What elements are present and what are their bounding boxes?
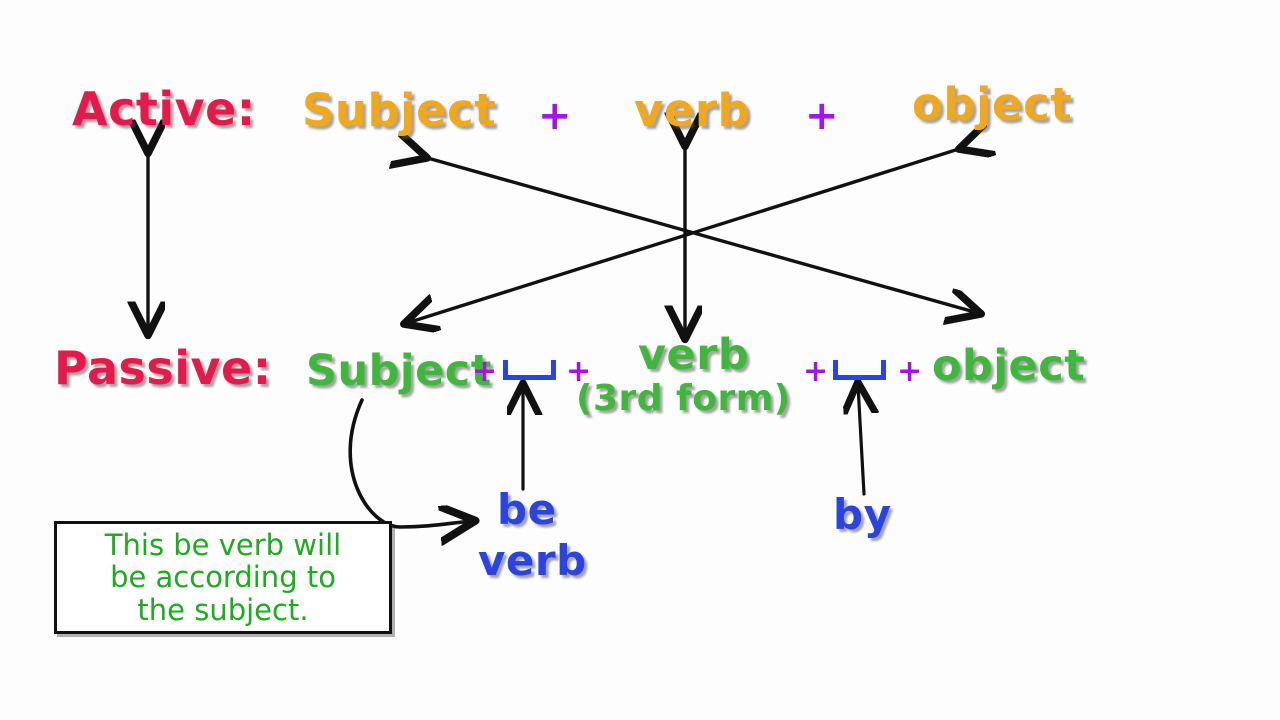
active-object-word: object [912,82,1072,127]
passive-be-verb-slot [503,360,556,380]
passive-plus-4: + [897,357,923,387]
passive-verb-third-form-note: (3rd form) [576,381,791,417]
subject-to-be-verb-curve-arrow [350,400,472,527]
active-plus-1: + [538,96,572,136]
active-verb-word: verb [634,88,750,133]
active-subject-to-passive-object-arrow [424,157,978,313]
note-line-1: This be verb will [57,524,389,561]
active-plus-2: + [805,96,839,136]
be-verb-annotation-line1: be [497,489,557,531]
note-box: This be verb will be according to the su… [54,521,392,634]
passive-plus-1: + [472,357,498,387]
passive-plus-3: + [803,357,829,387]
active-subject-word: Subject [302,88,496,133]
passive-object-word: object [932,345,1085,388]
note-line-3: the subject. [57,594,389,626]
diagram-canvas: Active: Subject + verb + object Passive:… [0,0,1280,720]
passive-row-label: Passive: [54,345,272,391]
active-row-label: Active: [72,86,256,132]
be-verb-annotation-line2: verb [478,540,587,582]
passive-subject-word: Subject [306,350,492,393]
note-line-2: be according to [57,561,389,593]
by-annotation: by [833,494,891,536]
by-slot-pointer-arrow [858,385,864,494]
passive-by-slot [833,360,886,380]
active-object-to-passive-subject-arrow [407,148,962,323]
passive-verb-word: verb [638,334,749,377]
